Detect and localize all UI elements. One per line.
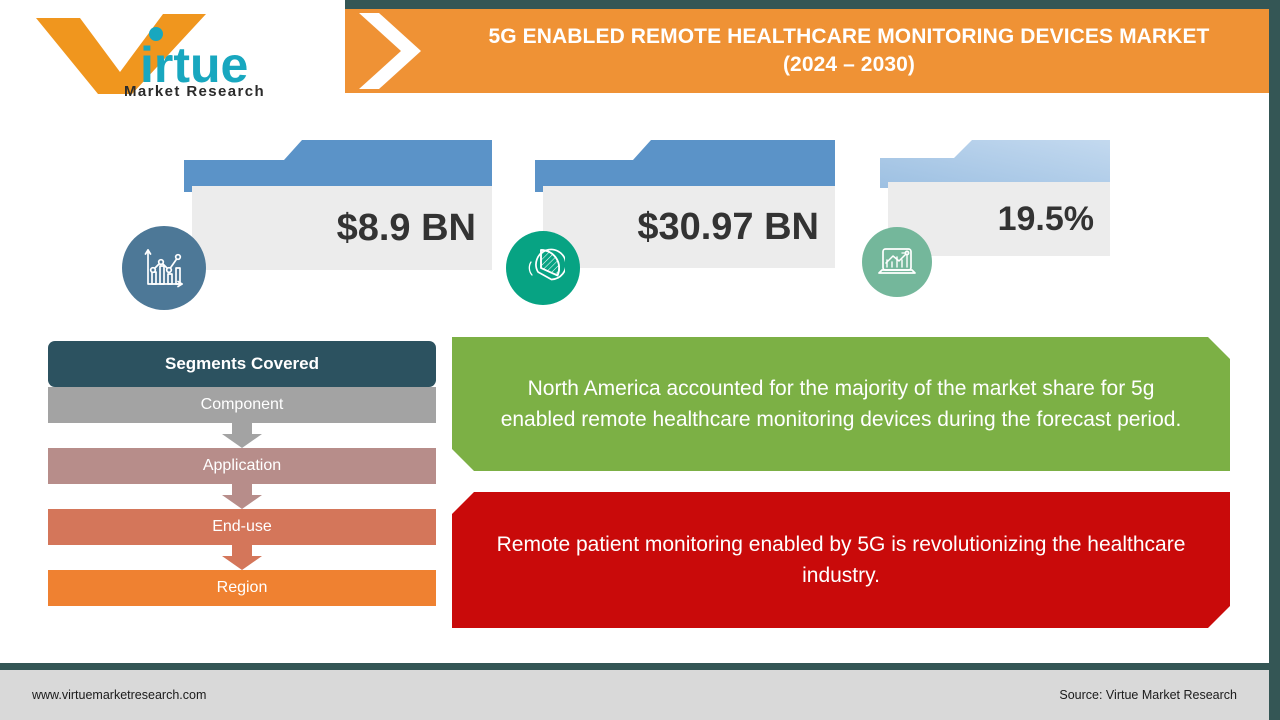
page-title-line2: (2024 – 2030) <box>783 51 915 79</box>
arrow-down-icon <box>48 484 436 509</box>
segment-row-region[interactable]: Region <box>48 570 436 606</box>
stat-card-2023: 2023 $8.9 BN <box>184 140 492 270</box>
callout-north-america: North America accounted for the majority… <box>452 337 1230 471</box>
segment-row-end-use[interactable]: End-use <box>48 509 436 570</box>
logo: irtue Market Research <box>28 10 328 98</box>
footer-source: Source: Virtue Market Research <box>1059 688 1237 702</box>
pie-chart-icon <box>506 231 580 305</box>
segment-bar-end-use: End-use <box>48 509 436 545</box>
header: irtue Market Research 5G ENABLED REMOTE … <box>0 0 1269 100</box>
infographic-page: irtue Market Research 5G ENABLED REMOTE … <box>0 0 1280 720</box>
footer-divider <box>0 663 1269 670</box>
segment-bar-component: Component <box>48 387 436 423</box>
folder-tab-shape <box>184 140 492 192</box>
footer: www.virtuemarketresearch.com Source: Vir… <box>0 670 1269 720</box>
stat-value-2023: $8.9 BN <box>337 207 492 250</box>
stat-card-2030: 2030 $30.97 BN <box>535 140 835 270</box>
stat-value-2030: $30.97 BN <box>637 206 835 249</box>
segment-row-application[interactable]: Application <box>48 448 436 509</box>
page-title: 5G ENABLED REMOTE HEALTHCARE MONITORING … <box>437 9 1261 93</box>
stat-body-2023: $8.9 BN <box>192 186 492 270</box>
segments-header: Segments Covered <box>48 341 436 387</box>
chevron-right-icon <box>345 9 437 93</box>
virtue-logo-icon: irtue Market Research <box>28 10 328 98</box>
stat-body-2030: $30.97 BN <box>543 186 835 268</box>
page-title-line1: 5G ENABLED REMOTE HEALTHCARE MONITORING … <box>489 23 1210 51</box>
arrow-down-icon <box>48 545 436 570</box>
segment-row-component[interactable]: Component <box>48 387 436 448</box>
footer-website[interactable]: www.virtuemarketresearch.com <box>32 688 206 702</box>
title-banner: 5G ENABLED REMOTE HEALTHCARE MONITORING … <box>345 9 1269 93</box>
segments-panel: Segments Covered Component Application E… <box>48 341 436 606</box>
right-border <box>1269 0 1280 720</box>
folder-tab-shape <box>535 140 835 192</box>
segment-bar-application: Application <box>48 448 436 484</box>
segment-bar-region: Region <box>48 570 436 606</box>
callout-remote-monitoring: Remote patient monitoring enabled by 5G … <box>452 492 1230 628</box>
line-bar-chart-icon <box>122 226 206 310</box>
stat-value-cagr: 19.5% <box>998 200 1110 239</box>
laptop-growth-chart-icon <box>862 227 932 297</box>
folder-tab-shape <box>880 140 1110 188</box>
arrow-down-icon <box>48 423 436 448</box>
svg-text:Market Research: Market Research <box>124 83 265 98</box>
